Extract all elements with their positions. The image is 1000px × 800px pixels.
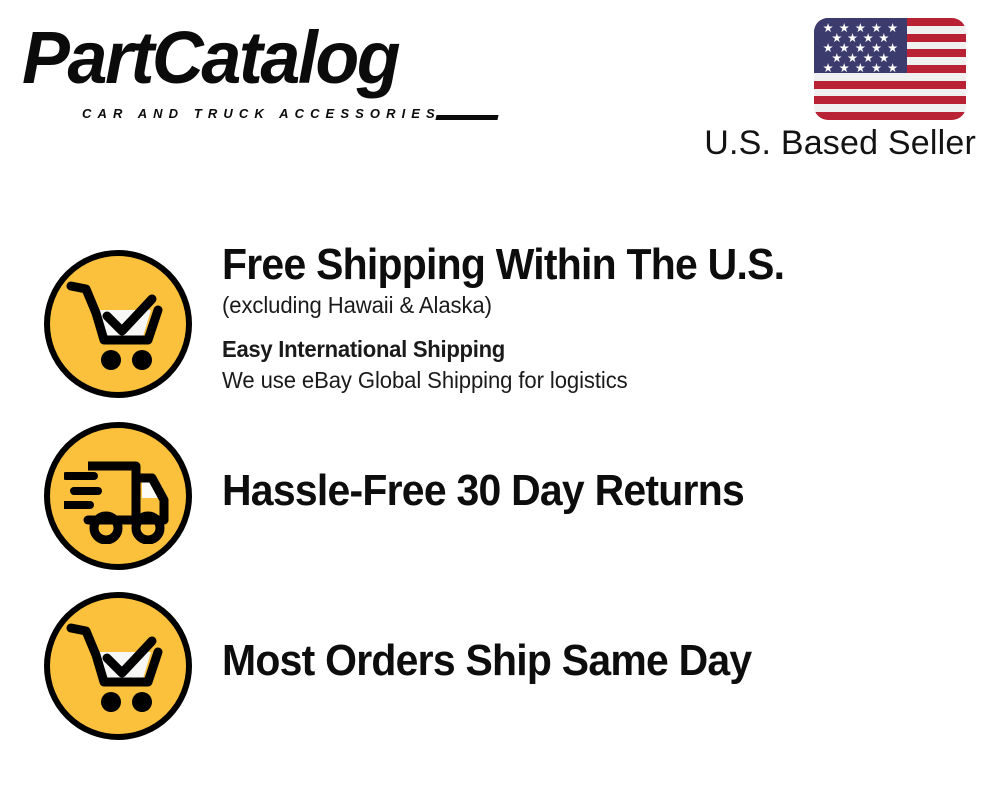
shopping-cart-check-icon	[44, 250, 192, 398]
us-based-seller-label: U.S. Based Seller	[704, 123, 976, 163]
brand-logo: PartCatalog CAR AND TRUCK ACCESSORIES	[22, 18, 492, 118]
feature-subnote-exclusions: (excluding Hawaii & Alaska)	[222, 290, 952, 321]
feature-heading: Free Shipping Within The U.S.	[222, 240, 929, 290]
flag-canton	[814, 18, 907, 73]
us-flag-icon	[814, 18, 966, 120]
shopping-cart-check-icon	[44, 592, 192, 740]
feature-heading: Most Orders Ship Same Day	[222, 636, 929, 686]
feature-text-free-shipping: Free Shipping Within The U.S. (excluding…	[222, 240, 982, 396]
us-based-seller-badge: U.S. Based Seller	[724, 10, 986, 160]
brand-tagline: CAR AND TRUCK ACCESSORIES	[82, 106, 441, 121]
flag-stars	[814, 18, 907, 73]
feature-text-same-day-shipping: Most Orders Ship Same Day	[222, 636, 982, 686]
brand-wordmark: PartCatalog	[22, 18, 398, 98]
delivery-truck-icon	[44, 422, 192, 570]
feature-subdetail-logistics: We use eBay Global Shipping for logistic…	[222, 365, 952, 396]
spacer	[222, 321, 982, 334]
feature-heading: Hassle-Free 30 Day Returns	[222, 466, 929, 516]
feature-text-returns: Hassle-Free 30 Day Returns	[222, 466, 982, 516]
brand-underline-accent	[435, 115, 498, 120]
promo-banner: PartCatalog CAR AND TRUCK ACCESSORIES	[0, 0, 1000, 800]
feature-subheading-international: Easy International Shipping	[222, 334, 952, 365]
